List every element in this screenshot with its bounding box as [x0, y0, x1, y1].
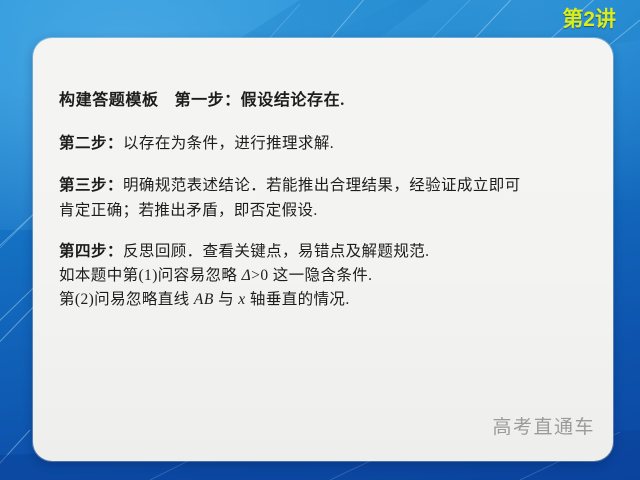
note-2-math-x: x — [238, 291, 245, 308]
step-3-label: 第三步： — [59, 177, 123, 194]
step-3-line-2: 肯定正确；若推出矛盾，即否定假设. — [59, 198, 593, 223]
step-2-row: 第二步：以存在为条件，进行推理求解. — [59, 131, 593, 156]
lesson-badge: 第2讲 — [562, 3, 616, 33]
template-heading: 构建答题模板 — [59, 92, 159, 109]
note-1-math-delta: Δ — [242, 267, 252, 284]
step-4-text: 反思回顾．查看关键点，易错点及解题规范. — [123, 243, 429, 260]
step-3-text-line-2: 肯定正确；若推出矛盾，即否定假设. — [59, 202, 318, 219]
step-4-row: 第四步：反思回顾．查看关键点，易错点及解题规范. 如本题中第(1)问容易忽略 Δ… — [59, 240, 593, 312]
note-2-mid: 与 — [214, 291, 238, 308]
note-2-math-ab: AB — [194, 291, 214, 308]
step-4-label: 第四步： — [59, 243, 123, 260]
note-1-after: >0 这一隐含条件. — [251, 267, 372, 284]
step-1-label: 第一步： — [175, 92, 241, 109]
step-3-row: 第三步：明确规范表述结论．若能推出合理结果，经验证成立即可 肯定正确；若推出矛盾… — [59, 173, 593, 223]
note-1-before: 如本题中第(1)问容易忽略 — [59, 267, 242, 284]
step-4-note-1: 如本题中第(1)问容易忽略 Δ>0 这一隐含条件. — [59, 264, 593, 288]
step-4-note-2: 第(2)问易忽略直线 AB 与 x 轴垂直的情况. — [59, 288, 593, 312]
note-2-before: 第(2)问易忽略直线 — [59, 291, 194, 308]
content-card: 构建答题模板第一步：假设结论存在. 第二步：以存在为条件，进行推理求解. 第三步… — [33, 38, 613, 461]
heading-and-step-1: 构建答题模板第一步：假设结论存在. — [59, 88, 593, 114]
step-2-text: 以存在为条件，进行推理求解. — [123, 135, 334, 152]
watermark: 高考直通车 — [492, 412, 595, 439]
note-2-after: 轴垂直的情况. — [246, 291, 350, 308]
step-2-label: 第二步： — [59, 135, 123, 152]
step-1-text: 假设结论存在. — [241, 92, 345, 109]
content-body: 构建答题模板第一步：假设结论存在. 第二步：以存在为条件，进行推理求解. 第三步… — [59, 88, 593, 312]
step-3-line-1: 第三步：明确规范表述结论．若能推出合理结果，经验证成立即可 — [59, 173, 593, 198]
step-3-text-line-1: 明确规范表述结论．若能推出合理结果，经验证成立即可 — [123, 177, 521, 194]
step-4-line: 第四步：反思回顾．查看关键点，易错点及解题规范. — [59, 240, 593, 264]
slide-root: 第2讲 构建答题模板第一步：假设结论存在. 第二步：以存在为条件，进行推理求解.… — [0, 0, 640, 480]
